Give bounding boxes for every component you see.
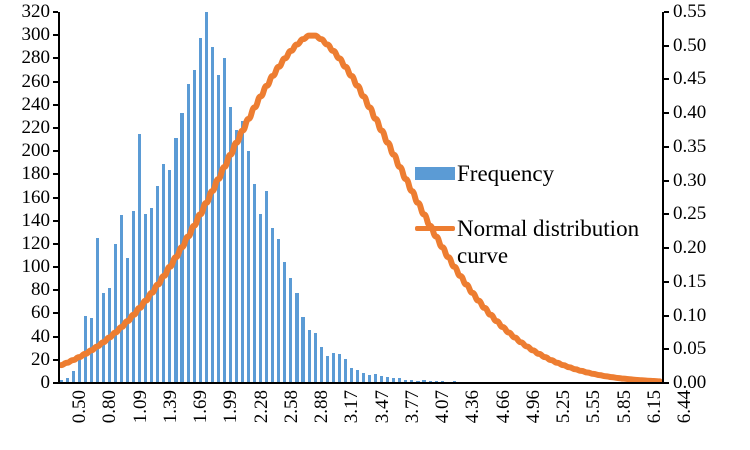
histogram-bar [193, 70, 196, 383]
x-axis-tick-label: 4.96 [524, 390, 543, 423]
y-axis-right-tick-label: 0.05 [673, 339, 706, 358]
y-axis-right-tick [664, 247, 669, 249]
x-axis-tick-label: 4.66 [494, 390, 513, 423]
y-axis-right-tick [664, 180, 669, 182]
y-axis-right-tick [664, 213, 669, 215]
y-axis-right-tick-label: 0.50 [673, 36, 706, 55]
histogram-bar [102, 293, 105, 383]
y-axis-right-tick [664, 112, 669, 114]
histogram-bar [132, 211, 135, 383]
histogram-bar [247, 151, 250, 383]
y-axis-right-tick [664, 45, 669, 47]
histogram-bar [144, 214, 147, 383]
histogram-bar [332, 353, 335, 383]
histogram-bar [162, 164, 165, 383]
histogram-chart: 0204060801001201401601802002202402602803… [0, 0, 750, 450]
x-axis-tick-label: 4.07 [433, 390, 452, 423]
histogram-bar [180, 113, 183, 383]
y-axis-left-tick [53, 312, 58, 314]
y-axis-left-tick-label: 20 [0, 350, 50, 369]
y-axis-right-tick-label: 0.35 [673, 137, 706, 156]
x-axis-tick-label: 4.36 [463, 390, 482, 423]
histogram-bar [114, 244, 117, 383]
y-axis-left-tick [53, 289, 58, 291]
y-axis-left-tick-label: 120 [0, 234, 50, 253]
y-axis-left-tick-label: 320 [0, 2, 50, 21]
y-axis-left-tick-label: 40 [0, 327, 50, 346]
histogram-bar [235, 130, 238, 383]
x-axis-tick-label: 1.39 [161, 390, 180, 423]
legend-bar-swatch-icon [415, 167, 455, 180]
histogram-bar [277, 239, 280, 383]
y-axis-left-tick-label: 240 [0, 95, 50, 114]
y-axis-left-tick-label: 100 [0, 257, 50, 276]
y-axis-left-tick [53, 266, 58, 268]
histogram-bar [344, 359, 347, 383]
y-axis-right-tick [664, 348, 669, 350]
y-axis-right-tick-label: 0.25 [673, 204, 706, 223]
x-axis-tick-label: 3.47 [373, 390, 392, 423]
histogram-bar [308, 330, 311, 383]
y-axis-left-tick-label: 300 [0, 25, 50, 44]
histogram-bar [326, 356, 329, 383]
histogram-bar [295, 293, 298, 383]
x-axis-tick-label: 2.58 [282, 390, 301, 423]
histogram-bar [126, 258, 129, 383]
histogram-bar [241, 121, 244, 383]
histogram-bar [150, 208, 153, 383]
histogram-bar [229, 107, 232, 383]
y-axis-left-tick-label: 60 [0, 303, 50, 322]
y-axis-left-tick [53, 57, 58, 59]
y-axis-left-tick-label: 180 [0, 164, 50, 183]
x-axis-tick-label: 1.09 [131, 390, 150, 423]
histogram-bar [217, 75, 220, 383]
y-axis-right-tick-label: 0.20 [673, 238, 706, 257]
legend-item-normal-curve: Normal distribution curve [415, 215, 645, 269]
histogram-bar [78, 358, 81, 384]
histogram-bar [265, 191, 268, 383]
histogram-bar [187, 84, 190, 383]
y-axis-left-tick [53, 81, 58, 83]
y-axis-left-tick [53, 127, 58, 129]
y-axis-right-tick [664, 146, 669, 148]
y-axis-left-tick [53, 150, 58, 152]
histogram-bar [320, 347, 323, 383]
y-axis-left-line [58, 12, 60, 384]
y-axis-left-tick [53, 11, 58, 13]
histogram-bar [271, 228, 274, 383]
histogram-bar [120, 215, 123, 383]
y-axis-right-tick [664, 281, 669, 283]
x-axis-tick-label: 5.85 [615, 390, 634, 423]
y-axis-left-tick [53, 359, 58, 361]
histogram-bar [108, 288, 111, 383]
histogram-bar [211, 47, 214, 383]
y-axis-left-tick-label: 140 [0, 211, 50, 230]
y-axis-left-tick [53, 336, 58, 338]
histogram-bar [259, 214, 262, 383]
y-axis-right-tick-label: 0.40 [673, 103, 706, 122]
x-axis-tick-label: 1.99 [221, 390, 240, 423]
histogram-bar [301, 317, 304, 383]
y-axis-left-tick-label: 0 [0, 373, 50, 392]
y-axis-right-tick-label: 0.10 [673, 306, 706, 325]
legend-item-frequency: Frequency [415, 160, 645, 187]
histogram-bar [156, 186, 159, 383]
x-axis-tick-label: 5.55 [584, 390, 603, 423]
legend-label-normal-curve: Normal distribution curve [457, 215, 645, 269]
x-axis-tick-label: 2.28 [252, 390, 271, 423]
histogram-bar [205, 12, 208, 383]
y-axis-right-tick [664, 382, 669, 384]
histogram-bar [253, 184, 256, 383]
x-axis-tick-label: 3.77 [403, 390, 422, 423]
y-axis-right-tick-label: 0.15 [673, 272, 706, 291]
y-axis-left-tick [53, 382, 58, 384]
y-axis-left-tick-label: 220 [0, 118, 50, 137]
y-axis-right-tick-label: 0.45 [673, 69, 706, 88]
y-axis-left-tick [53, 243, 58, 245]
x-axis-tick-label: 0.80 [100, 390, 119, 423]
y-axis-left-tick [53, 173, 58, 175]
histogram-bar [138, 134, 141, 383]
histogram-bar [338, 354, 341, 383]
y-axis-right-tick [664, 315, 669, 317]
y-axis-right-line [662, 12, 664, 384]
histogram-bar [174, 138, 177, 383]
x-axis-tick-label: 0.50 [70, 390, 89, 423]
histogram-bar [289, 278, 292, 384]
chart-legend: Frequency Normal distribution curve [415, 160, 645, 297]
x-axis-tick-label: 1.69 [191, 390, 210, 423]
histogram-bar [314, 333, 317, 383]
y-axis-right-tick [664, 11, 669, 13]
x-axis-tick-label: 5.25 [554, 390, 573, 423]
x-axis-tick-label: 3.17 [342, 390, 361, 423]
histogram-bar [168, 170, 171, 383]
y-axis-left-tick-label: 260 [0, 72, 50, 91]
y-axis-left-tick-label: 160 [0, 188, 50, 207]
y-axis-left-tick-label: 200 [0, 141, 50, 160]
y-axis-right-tick-label: 0.55 [673, 2, 706, 21]
y-axis-left-tick-label: 280 [0, 48, 50, 67]
y-axis-left-tick-label: 80 [0, 280, 50, 299]
y-axis-left-tick [53, 34, 58, 36]
y-axis-right-tick-label: 0.30 [673, 171, 706, 190]
y-axis-right-tick [664, 78, 669, 80]
histogram-bar [223, 58, 226, 383]
histogram-bar [84, 316, 87, 383]
histogram-bar [350, 368, 353, 383]
x-axis-tick-label: 2.88 [312, 390, 331, 423]
legend-line-swatch-icon [415, 226, 455, 231]
y-axis-left-tick [53, 104, 58, 106]
histogram-bar [199, 38, 202, 383]
histogram-bar [96, 238, 99, 383]
legend-label-frequency: Frequency [457, 160, 554, 187]
x-axis-tick-label: 6.44 [675, 390, 694, 423]
x-axis-line [58, 382, 664, 384]
y-axis-left-tick [53, 220, 58, 222]
y-axis-left-tick [53, 197, 58, 199]
x-axis-tick-label: 6.15 [645, 390, 664, 423]
histogram-bar [90, 318, 93, 383]
histogram-bar [283, 262, 286, 383]
